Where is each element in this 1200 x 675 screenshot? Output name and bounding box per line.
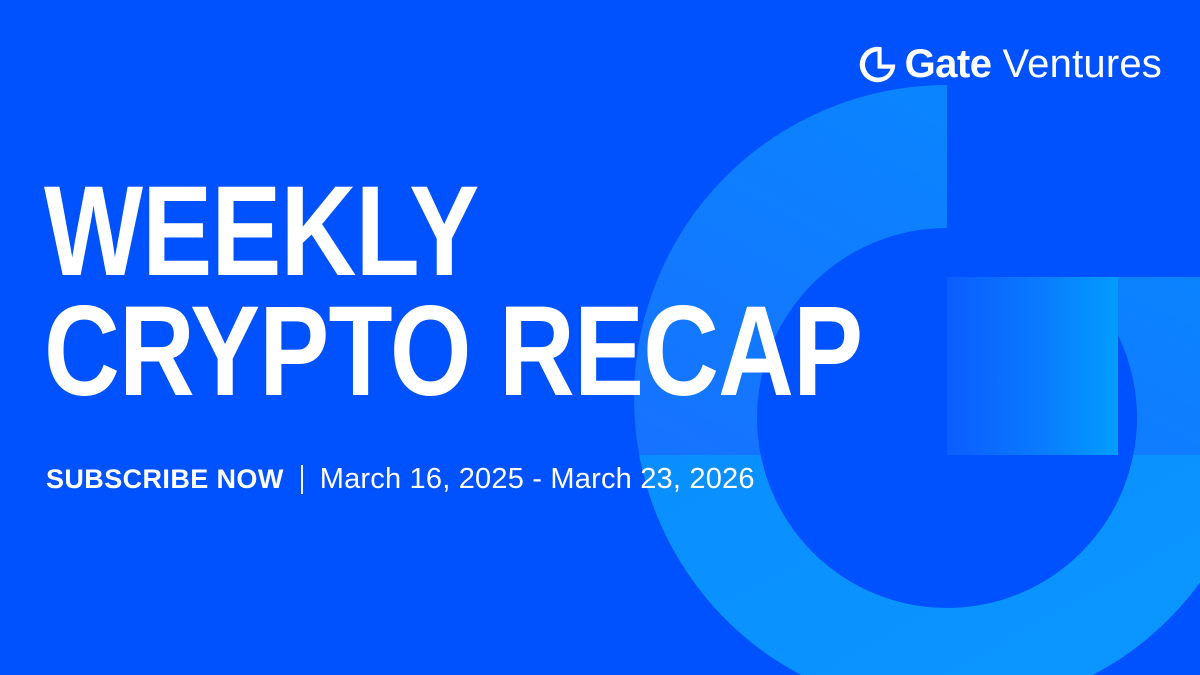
brand-lockup[interactable]: Gate Ventures <box>859 44 1162 84</box>
headline-line-1: WEEKLY <box>44 178 862 286</box>
page-title: WEEKLY CRYPTO RECAP <box>44 178 1042 405</box>
headline-line-2: CRYPTO RECAP <box>44 298 862 406</box>
weekly-crypto-recap-banner: Gate Ventures WEEKLY CRYPTO RECAP SUBSCR… <box>0 0 1200 675</box>
brand-name-gate: Gate <box>905 44 992 84</box>
brand-name-ventures: Ventures <box>1003 44 1163 84</box>
gate-logo-mark-icon <box>859 46 896 83</box>
brand-wordmark: Gate Ventures <box>905 44 1162 84</box>
subtitle-divider <box>301 465 303 494</box>
subtitle-row: SUBSCRIBE NOW March 16, 2025 - March 23,… <box>46 463 755 496</box>
date-range-label: March 16, 2025 - March 23, 2026 <box>320 463 755 496</box>
subscribe-now-cta[interactable]: SUBSCRIBE NOW <box>46 464 284 495</box>
